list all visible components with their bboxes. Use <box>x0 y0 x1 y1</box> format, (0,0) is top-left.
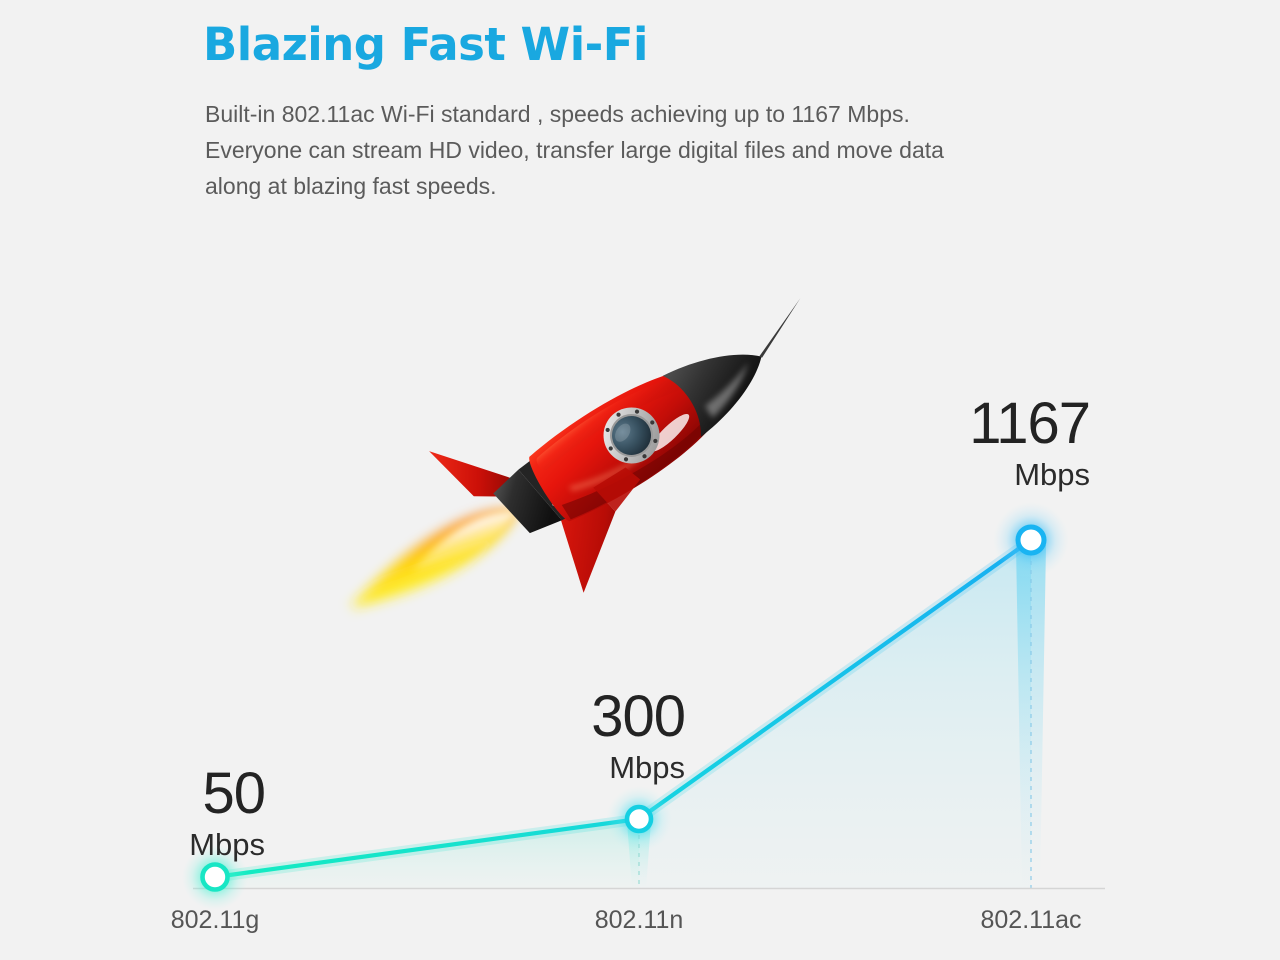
infographic-page: Blazing Fast Wi-Fi Built-in 802.11ac Wi-… <box>0 0 1280 960</box>
data-value-1: 300 <box>520 688 685 746</box>
data-value-0: 50 <box>120 765 265 823</box>
data-point-1 <box>627 807 651 831</box>
data-label-0: 50 Mbps <box>120 765 265 860</box>
data-point-0 <box>203 865 228 890</box>
data-label-1: 300 Mbps <box>520 688 685 783</box>
data-unit-1: Mbps <box>520 752 685 783</box>
data-value-2: 1167 <box>905 395 1090 453</box>
x-axis-label-1: 802.11n <box>539 906 739 935</box>
data-point-2 <box>1018 527 1044 553</box>
x-axis-label-2: 802.11ac <box>931 906 1131 935</box>
data-label-2: 1167 Mbps <box>905 395 1090 490</box>
data-unit-0: Mbps <box>120 829 265 860</box>
chart-area-fill-right <box>639 540 1031 888</box>
x-axis-label-0: 802.11g <box>115 906 315 935</box>
data-unit-2: Mbps <box>905 459 1090 490</box>
